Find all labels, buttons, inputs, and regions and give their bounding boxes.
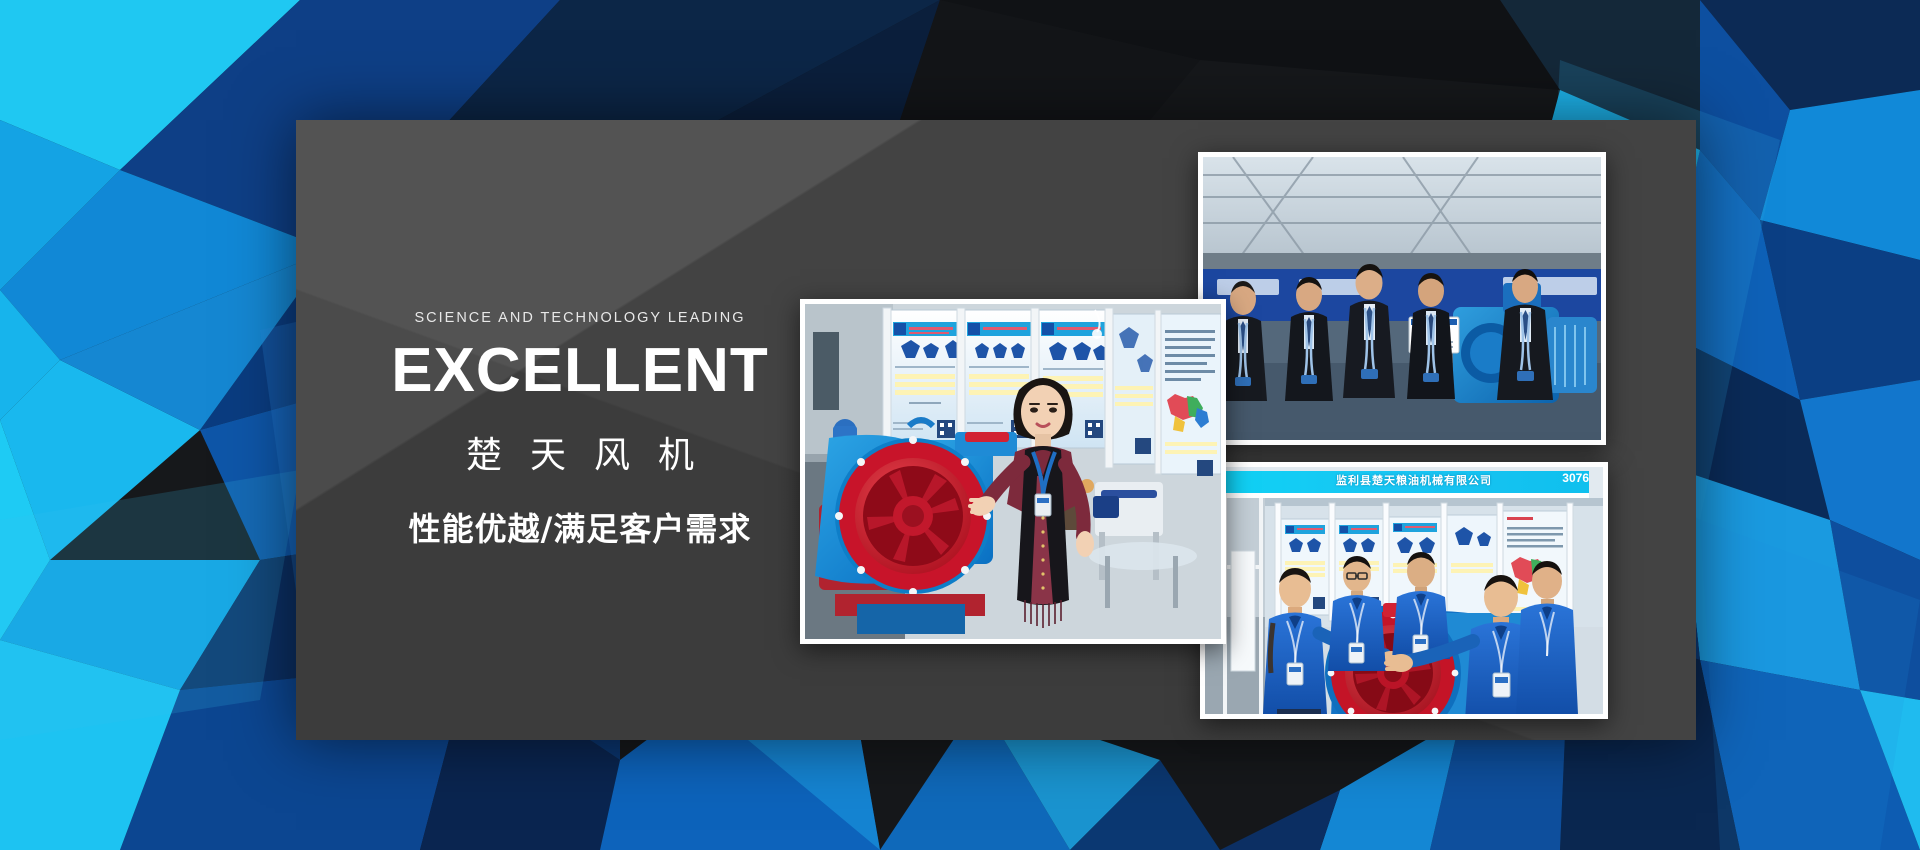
company-name-cn: 楚天风机: [380, 426, 780, 478]
booth-banner-company-name: 监利县楚天粮油机械有限公司: [1205, 472, 1603, 488]
photo-team-in-blue-polos: 监利县楚天粮油机械有限公司 3076: [1200, 462, 1608, 719]
team-in-blue-polos-image: [1205, 467, 1603, 714]
slogan-cn: 性能优越/满足客户需求: [380, 504, 780, 550]
photo-team-in-suits: CT 7.5kW: [1198, 152, 1606, 445]
eyebrow-tagline: SCIENCE AND TECHNOLOGY LEADING: [380, 310, 780, 326]
hostess-with-fan-image: [805, 304, 1221, 639]
booth-number: 3076: [1562, 471, 1589, 485]
headline-text-block: SCIENCE AND TECHNOLOGY LEADING EXCELLENT…: [380, 310, 780, 550]
page-title: EXCELLENT: [380, 340, 780, 402]
promotional-banner: SCIENCE AND TECHNOLOGY LEADING EXCELLENT…: [0, 0, 1920, 850]
photo-hostess-with-fan: [800, 299, 1226, 644]
team-in-suits-image: CT 7.5kW: [1203, 157, 1601, 440]
